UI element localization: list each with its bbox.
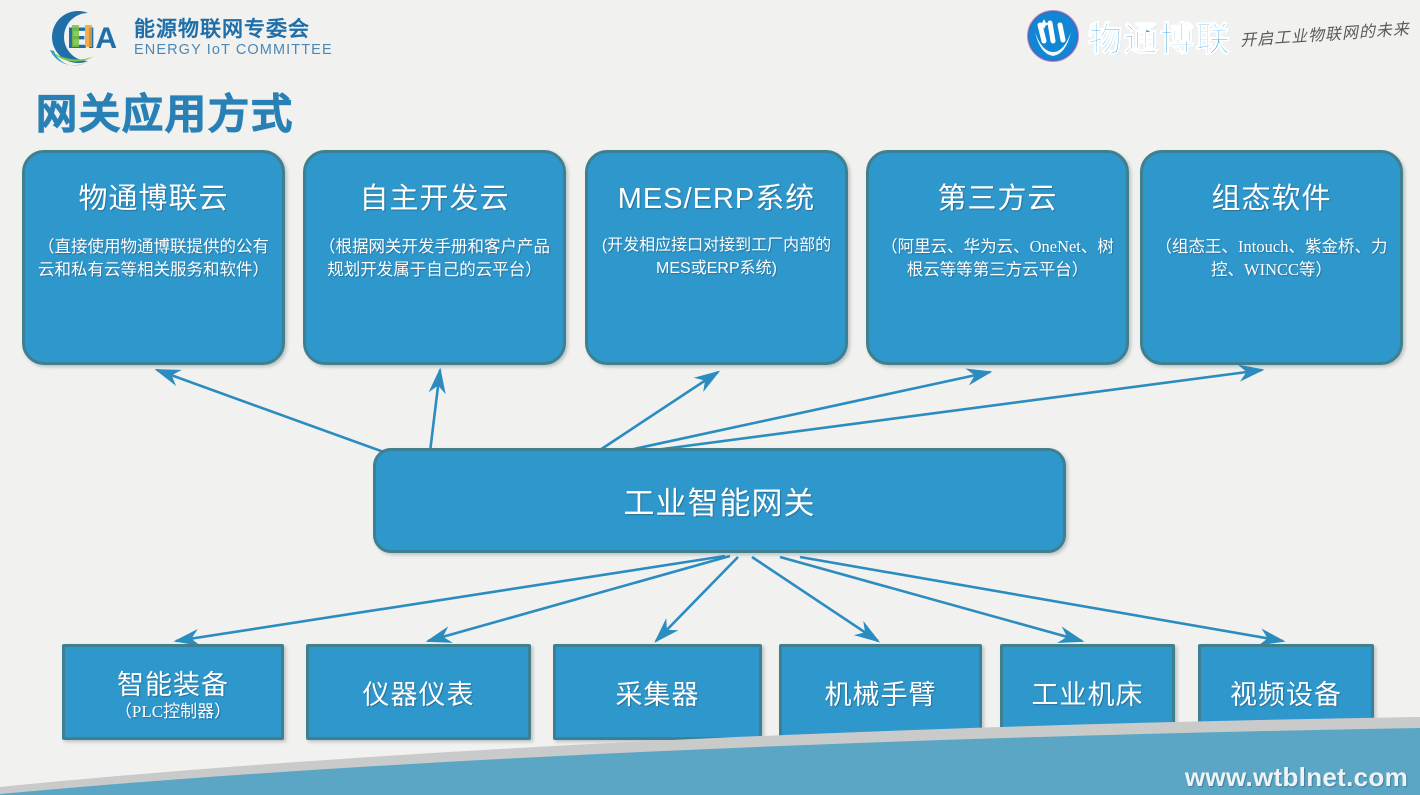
node-card-3[interactable]: MES/ERP系统 (开发相应接口对接到工厂内部的MES或ERP系统)	[585, 150, 848, 365]
slide-canvas: EIA 能源物联网专委会 ENERGY IoT COMMITTEE 物通博联 开…	[0, 0, 1420, 795]
eia-logo-name-en: ENERGY IoT COMMITTEE	[134, 42, 333, 58]
brand-logo-icon	[1026, 9, 1080, 63]
node-device-4-title: 机械手臂	[825, 673, 937, 712]
node-card-1-title: 物通博联云	[78, 175, 228, 217]
page-title: 网关应用方式	[36, 80, 294, 140]
node-card-4-desc: （阿里云、华为云、OneNet、树根云等等第三方云平台）	[869, 235, 1126, 282]
node-card-2-desc: （根据网关开发手册和客户产品规划开发属于自己的云平台）	[306, 235, 563, 282]
node-device-1-title: 智能装备	[117, 663, 229, 702]
node-card-1-desc: （直接使用物通博联提供的公有云和私有云等相关服务和软件）	[25, 235, 282, 282]
eia-logo-mark: EIA	[30, 6, 130, 68]
brand-logo: 物通博联 开启工业物联网的未来	[1026, 6, 1410, 66]
node-card-2-title: 自主开发云	[359, 175, 509, 217]
site-url: www.wtblnet.com	[1185, 762, 1408, 793]
eia-logo-name-cn: 能源物联网专委会	[134, 13, 310, 43]
node-card-2[interactable]: 自主开发云 （根据网关开发手册和客户产品规划开发属于自己的云平台）	[303, 150, 566, 365]
node-card-4[interactable]: 第三方云 （阿里云、华为云、OneNet、树根云等等第三方云平台）	[866, 150, 1129, 365]
node-card-5-title: 组态软件	[1211, 175, 1331, 217]
node-card-4-title: 第三方云	[937, 175, 1057, 217]
brand-logo-name: 物通博联	[1088, 12, 1232, 61]
node-device-5-title: 工业机床	[1032, 673, 1144, 712]
node-device-3-title: 采集器	[616, 673, 700, 712]
node-device-6-title: 视频设备	[1230, 673, 1342, 712]
brand-logo-slogan: 开启工业物联网的未来	[1239, 15, 1411, 57]
node-device-2-title: 仪器仪表	[363, 673, 475, 712]
node-card-3-title: MES/ERP系统	[618, 175, 816, 217]
footer-banner: www.wtblnet.com	[0, 715, 1420, 795]
node-center-gateway-title: 工业智能网关	[624, 478, 816, 523]
eia-logo: EIA 能源物联网专委会 ENERGY IoT COMMITTEE	[30, 6, 330, 68]
node-card-1[interactable]: 物通博联云 （直接使用物通博联提供的公有云和私有云等相关服务和软件）	[22, 150, 285, 365]
node-card-5[interactable]: 组态软件 （组态王、Intouch、紫金桥、力控、WINCC等）	[1140, 150, 1403, 365]
node-center-gateway[interactable]: 工业智能网关	[373, 448, 1066, 553]
node-card-3-desc: (开发相应接口对接到工厂内部的MES或ERP系统)	[588, 235, 845, 280]
node-card-5-desc: （组态王、Intouch、紫金桥、力控、WINCC等）	[1143, 235, 1400, 282]
